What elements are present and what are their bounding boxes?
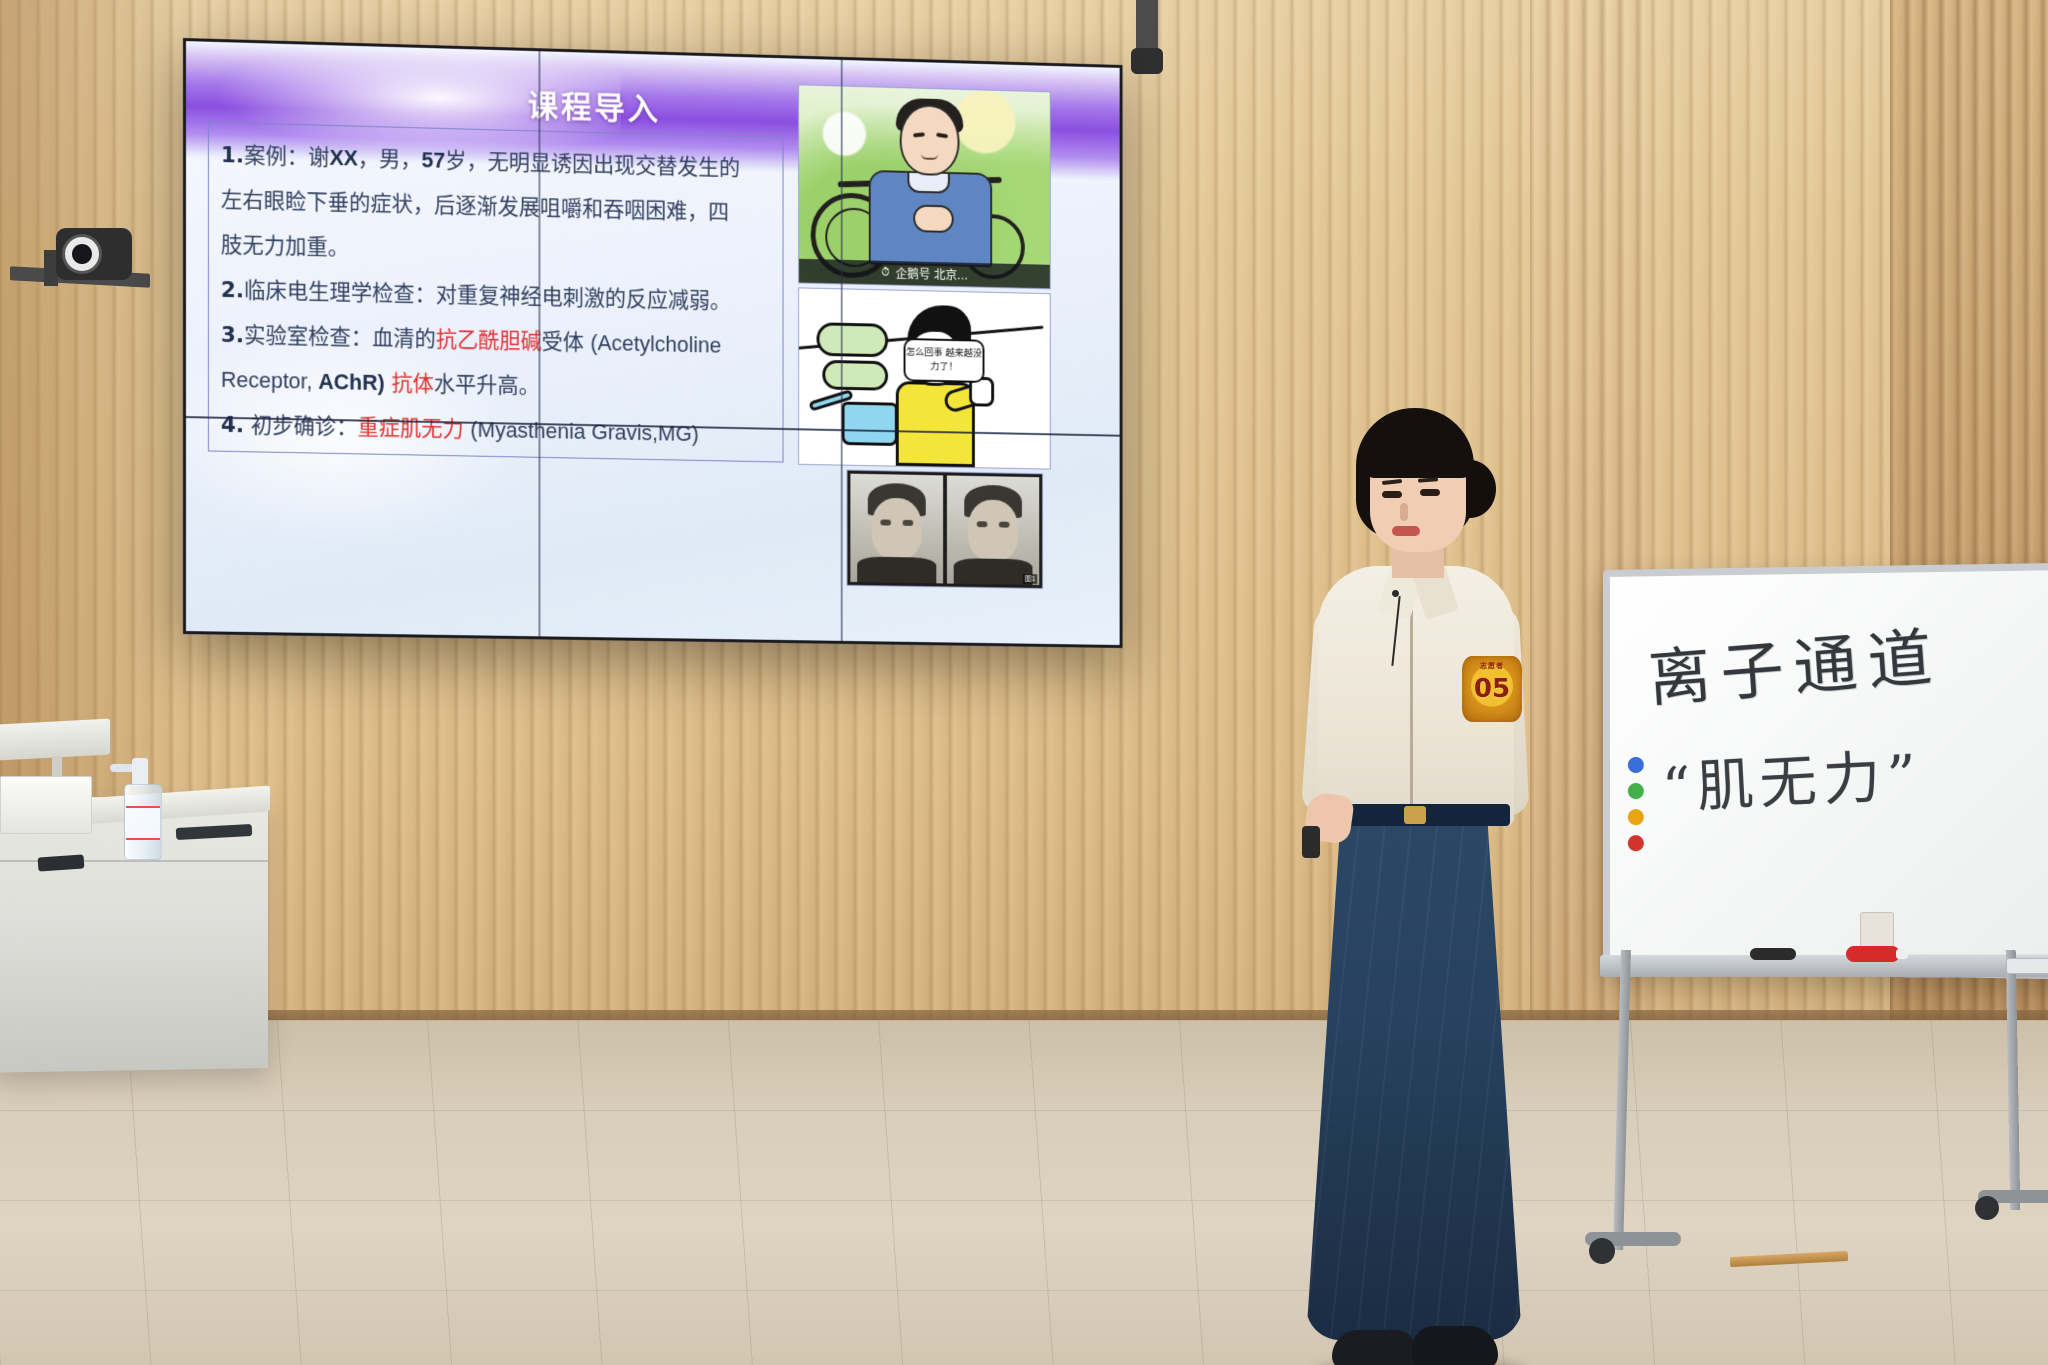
photo-label: 图1: [1023, 574, 1037, 584]
whiteboard-marker-tray: [1600, 955, 2048, 978]
panel-seam-vertical-2: [841, 60, 843, 641]
patient-photo-left: [850, 474, 943, 584]
whiteboard-caster-left: [1589, 1238, 1615, 1264]
shirt-placket: [1410, 604, 1413, 814]
patient-head: [900, 104, 960, 176]
slide-text-block: 1.案例：谢XX，男，57岁，无明显诱因出现交替发生的 左右眼睑下垂的症状，后逐…: [208, 122, 784, 463]
magnet-blue-icon[interactable]: [1628, 757, 1644, 773]
whiteboard-handwriting-line2: “肌无力”: [1660, 729, 1925, 824]
whiteboard-magnets[interactable]: [1628, 757, 1644, 861]
cartoon-speech-bubble: 怎么回事 越来越没力了！: [904, 338, 985, 383]
photo-eye-left: [977, 521, 988, 527]
armband-number: 05: [1474, 674, 1510, 704]
photo-suit: [953, 558, 1032, 585]
whiteboard-eraser[interactable]: [2006, 958, 2048, 974]
patient-hand: [913, 205, 953, 234]
black-marker[interactable]: [1750, 948, 1796, 960]
cartoon-glasses-lower: [822, 360, 888, 391]
whiteboard[interactable]: 离子通道 “肌无力”: [1603, 561, 2048, 981]
presenter-shoe-left: [1332, 1330, 1416, 1365]
photo-eye-right: [902, 520, 913, 526]
presenter-hair-front: [1362, 426, 1472, 478]
presenter-skirt: [1306, 820, 1522, 1340]
presentation-slide: 课程导入 1.案例：谢XX，男，57岁，无明显诱因出现交替发生的 左右眼睑下垂的…: [186, 41, 1120, 645]
photo-eye-right: [999, 522, 1010, 528]
magnet-red-icon[interactable]: [1628, 835, 1644, 851]
presenter-shoe-right: [1412, 1326, 1498, 1365]
cartoon-watering-can: [842, 402, 898, 446]
cartoon-glasses-upper: [817, 322, 889, 357]
presentation-clicker[interactable]: [1302, 826, 1320, 858]
led-video-wall[interactable]: 课程导入 1.案例：谢XX，男，57岁，无明显诱因出现交替发生的 左右眼睑下垂的…: [183, 38, 1122, 648]
sanitizer-pump[interactable]: [132, 758, 148, 786]
presenter-lips: [1392, 526, 1420, 536]
ceiling-mount-head: [1131, 48, 1163, 74]
wheelchair-patient-image: ⏱ 企鹅号 北京...: [798, 84, 1051, 289]
classroom-scene: 课程导入 1.案例：谢XX，男，57岁，无明显诱因出现交替发生的 左右眼睑下垂的…: [0, 0, 2048, 1365]
photo-suit: [857, 556, 937, 583]
cartoon-fatigue-image: 怎么回事 越来越没力了！: [798, 287, 1051, 469]
floor: [0, 1020, 2048, 1365]
belt-buckle: [1404, 806, 1426, 824]
armband-top-text: 志愿者: [1480, 661, 1504, 671]
presenter-eye-left: [1382, 491, 1402, 498]
image-caption-bar: ⏱ 企鹅号 北京...: [799, 259, 1050, 289]
red-marker[interactable]: [1846, 946, 1900, 962]
bell-icon: ⏱: [881, 266, 889, 280]
historic-patient-photos: 图1: [847, 470, 1044, 589]
photo-face: [872, 498, 922, 559]
magnet-green-icon[interactable]: [1628, 783, 1644, 799]
image-caption-text: 企鹅号 北京...: [895, 265, 968, 283]
presenter-eye-right: [1420, 489, 1440, 496]
photo-face: [968, 500, 1018, 561]
magnet-yellow-icon[interactable]: [1628, 809, 1644, 825]
whiteboard-caster-right: [1975, 1196, 1999, 1220]
side-desk-top: [0, 719, 110, 762]
armband-badge: 志愿者 05: [1462, 656, 1522, 722]
patient-photo-right: 图1: [947, 475, 1039, 585]
slide-title: 课程导入: [528, 81, 661, 129]
sanitizer-label: [126, 806, 160, 840]
white-box: [0, 776, 92, 834]
photo-eye-left: [880, 520, 891, 526]
presenter: 志愿者 05: [1300, 408, 1530, 1088]
presenter-nose: [1400, 503, 1408, 521]
panel-seam-vertical-1: [538, 51, 540, 636]
camera-lens-icon: [62, 234, 102, 274]
